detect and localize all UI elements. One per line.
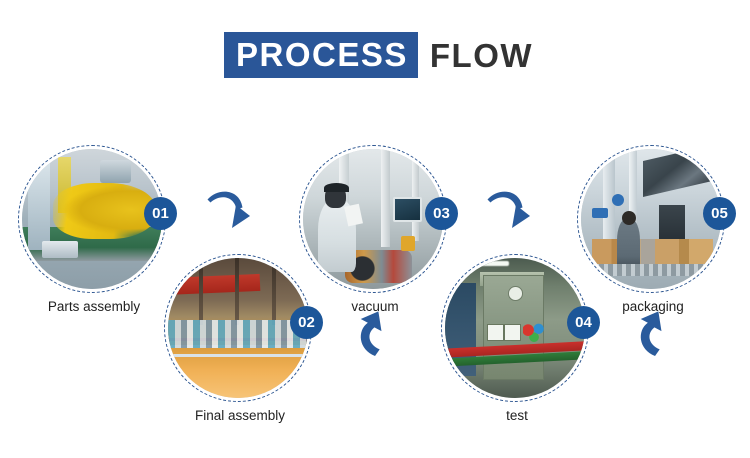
step-node-02[interactable]: 02 Final assembly bbox=[164, 254, 316, 406]
step-circle-05: 05 bbox=[577, 145, 729, 297]
arrow-step1-to-step2 bbox=[203, 183, 263, 243]
step-node-01[interactable]: 01 Parts assembly bbox=[18, 145, 170, 297]
process-flow-diagram: PROCESS FLOW 01 Parts assembly bbox=[0, 0, 750, 458]
step-circle-02: 02 bbox=[164, 254, 316, 406]
page-title-plain: FLOW bbox=[430, 39, 533, 72]
step-node-04[interactable]: 04 test bbox=[441, 254, 593, 406]
dashed-ring-01 bbox=[18, 145, 166, 293]
step-node-03[interactable]: 03 vacuum bbox=[299, 145, 451, 297]
step-circle-03: 03 bbox=[299, 145, 451, 297]
step-badge-04: 04 bbox=[567, 306, 600, 339]
step-badge-01: 01 bbox=[144, 197, 177, 230]
step-node-05[interactable]: 05 packaging bbox=[577, 145, 729, 297]
dashed-ring-02 bbox=[164, 254, 312, 402]
page-title-accent: PROCESS bbox=[224, 32, 418, 78]
dashed-ring-03 bbox=[299, 145, 447, 293]
arrow-step3-to-step4 bbox=[483, 183, 543, 243]
step-circle-04: 04 bbox=[441, 254, 593, 406]
dashed-ring-05 bbox=[577, 145, 725, 293]
dashed-ring-04 bbox=[441, 254, 589, 402]
step-badge-02: 02 bbox=[290, 306, 323, 339]
step-label-04: test bbox=[419, 408, 615, 423]
step-badge-05: 05 bbox=[703, 197, 736, 230]
step-circle-01: 01 bbox=[18, 145, 170, 297]
page-title: PROCESS FLOW bbox=[224, 33, 533, 77]
step-label-02: Final assembly bbox=[142, 408, 338, 423]
step-badge-03: 03 bbox=[425, 197, 458, 230]
